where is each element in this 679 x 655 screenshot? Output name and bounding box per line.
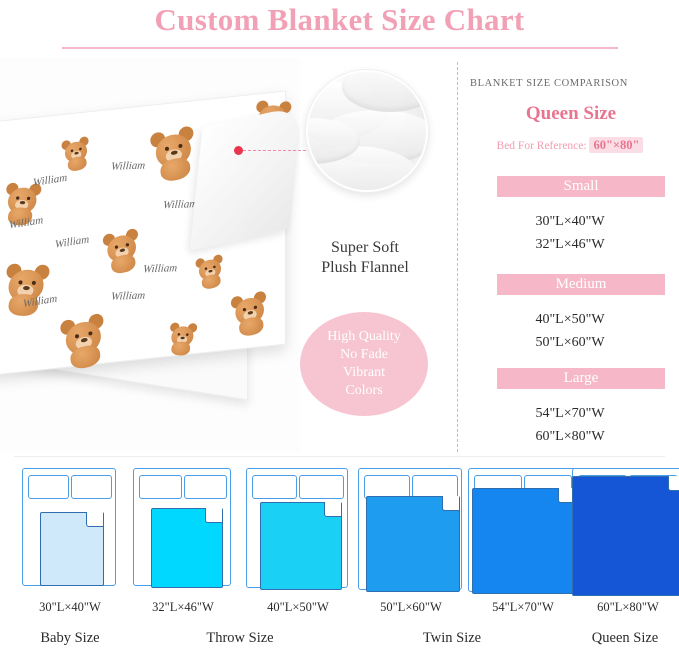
blanket-name-text: William bbox=[111, 290, 146, 303]
bed-pillow bbox=[71, 475, 112, 499]
blanket-name-text: William bbox=[55, 233, 90, 250]
blanket-name-text: William bbox=[163, 198, 198, 211]
blanket-name-text: William bbox=[111, 160, 146, 173]
bed-pillow bbox=[139, 475, 182, 499]
bed-reference-value: 60"×80" bbox=[589, 137, 643, 153]
bed-illustration bbox=[22, 468, 118, 588]
title-divider bbox=[62, 47, 618, 49]
bed-size-label: 54"L×70"W bbox=[463, 600, 583, 615]
teddy-bear-icon bbox=[190, 249, 231, 294]
size-dims-small: 30"L×40"W 32"L×46"W bbox=[470, 210, 670, 256]
bed-reference: Bed For Reference: 60"×80" bbox=[462, 138, 678, 153]
product-photo: WilliamWilliamWilliamWilliamWilliamWilli… bbox=[0, 58, 300, 453]
page-title: Custom Blanket Size Chart bbox=[0, 2, 679, 38]
selected-size-label: Queen Size bbox=[466, 103, 676, 125]
teddy-bear-icon bbox=[96, 222, 149, 280]
blanket-fold-corner bbox=[190, 105, 300, 250]
bed-group-name: Twin Size bbox=[382, 630, 522, 647]
bed-group-name: Throw Size bbox=[170, 630, 310, 647]
bed-pillow bbox=[299, 475, 344, 499]
bed-size-label: 32"L×46"W bbox=[123, 600, 243, 615]
bed-size-label: 40"L×50"W bbox=[238, 600, 358, 615]
size-dim-medium-0: 40"L×50"W bbox=[470, 308, 670, 331]
bed-group-name: Queen Size bbox=[555, 630, 679, 647]
teddy-bear-icon bbox=[224, 284, 277, 342]
size-dims-large: 54"L×70"W 60"L×80"W bbox=[470, 402, 670, 448]
bed-group-name: Baby Size bbox=[0, 630, 140, 647]
plush-detail-circle bbox=[306, 70, 428, 192]
bed-comparison-row: 30"L×40"W32"L×46"W40"L×50"W50"L×60"W54"L… bbox=[0, 462, 679, 655]
bed-illustration bbox=[246, 468, 350, 590]
bed-pillow bbox=[184, 475, 227, 499]
teddy-bear-icon bbox=[56, 131, 97, 176]
quality-line-3: Colors bbox=[345, 383, 382, 398]
blanket-folded-corner bbox=[442, 496, 459, 511]
bed-pillow bbox=[28, 475, 69, 499]
plush-label-line2: Plush Flannel bbox=[292, 258, 438, 278]
size-dim-large-0: 54"L×70"W bbox=[470, 402, 670, 425]
blanket-folded-corner bbox=[205, 508, 222, 523]
teddy-bear-icon bbox=[0, 258, 61, 320]
bed-illustration bbox=[133, 468, 233, 588]
bed-illustration bbox=[358, 468, 464, 592]
size-dim-small-1: 32"L×46"W bbox=[470, 233, 670, 256]
blanket-folded-corner bbox=[86, 512, 103, 527]
size-dims-medium: 40"L×50"W 50"L×60"W bbox=[470, 308, 670, 354]
vertical-divider bbox=[457, 62, 458, 452]
callout-dot bbox=[234, 146, 243, 155]
teddy-bear-icon bbox=[162, 319, 204, 358]
size-dim-small-0: 30"L×40"W bbox=[470, 210, 670, 233]
comparison-heading: BLANKET SIZE COMPARISON bbox=[470, 78, 670, 89]
bed-size-label: 60"L×80"W bbox=[568, 600, 679, 615]
callout-dash bbox=[238, 150, 316, 151]
blanket-folded-corner bbox=[668, 476, 679, 491]
plush-label-line1: Super Soft bbox=[292, 238, 438, 258]
horizontal-divider bbox=[14, 456, 665, 457]
blanket-overlay bbox=[572, 476, 679, 596]
blanket-overlay bbox=[472, 488, 576, 594]
size-dim-medium-1: 50"L×60"W bbox=[470, 331, 670, 354]
callout-line bbox=[238, 145, 316, 157]
size-band-small: Small bbox=[497, 176, 665, 197]
blanket-folded-corner bbox=[324, 502, 341, 517]
quality-badge-text: High Quality No Fade Vibrant Colors bbox=[327, 328, 401, 400]
size-dim-large-1: 60"L×80"W bbox=[470, 425, 670, 448]
quality-line-0: High Quality bbox=[327, 329, 401, 344]
bed-size-label: 30"L×40"W bbox=[10, 600, 130, 615]
quality-line-1: No Fade bbox=[340, 347, 388, 362]
blanket-name-text: William bbox=[33, 172, 68, 189]
teddy-bear-icon bbox=[52, 305, 117, 376]
bed-reference-label: Bed For Reference: bbox=[497, 140, 587, 152]
bed-illustration bbox=[468, 468, 578, 594]
size-band-large: Large bbox=[497, 368, 665, 389]
size-band-medium: Medium bbox=[497, 274, 665, 295]
quality-line-2: Vibrant bbox=[343, 365, 385, 380]
bed-size-label: 50"L×60"W bbox=[351, 600, 471, 615]
blanket-name-text: William bbox=[143, 262, 178, 275]
bed-pillow bbox=[252, 475, 297, 499]
bed-illustration bbox=[572, 468, 679, 596]
quality-badge: High Quality No Fade Vibrant Colors bbox=[300, 312, 428, 416]
plush-label: Super Soft Plush Flannel bbox=[292, 238, 438, 278]
